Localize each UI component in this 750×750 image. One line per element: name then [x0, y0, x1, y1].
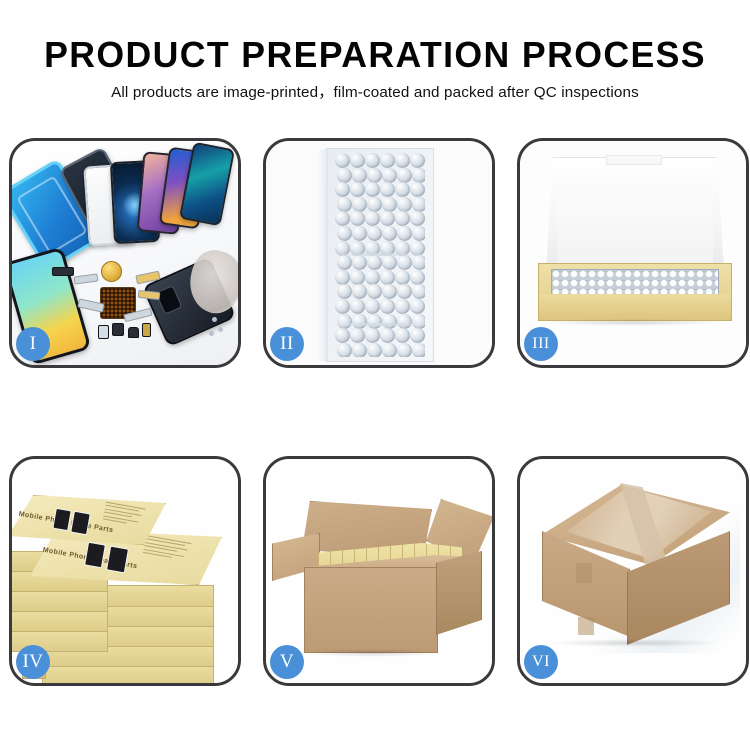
box-front-face-graphic: [539, 294, 731, 320]
bubble-graphic: [410, 299, 425, 314]
step-panel-1: I: [9, 138, 241, 368]
bubble-graphic: [410, 153, 425, 168]
step-badge-2: II: [270, 327, 304, 361]
open-box-illustration: [520, 141, 746, 365]
step-6-image: [520, 459, 746, 683]
box-lid-tab-graphic: [606, 155, 662, 165]
bubble-graphic: [395, 182, 410, 197]
bubble-graphic: [365, 182, 380, 197]
carton-shadow-graphic: [306, 649, 438, 657]
box-stack-graphic: Mobile Phone Spare PartsMobile Phone Spa…: [12, 469, 238, 679]
carton-shadow-graphic: [550, 639, 720, 647]
header: PRODUCT PREPARATION PROCESS All products…: [0, 0, 750, 102]
box-shadow-graphic: [546, 319, 722, 326]
bubble-graphic: [367, 314, 382, 329]
bubble-graphic: [365, 328, 380, 343]
bubble-graphic: [337, 168, 352, 183]
bubble-graphic: [412, 168, 425, 183]
sealed-carton-illustration: [520, 459, 746, 683]
step-badge-3: III: [524, 327, 558, 361]
bubble-graphic: [397, 284, 412, 299]
bubble-graphic: [410, 182, 425, 197]
box-lid-graphic: [546, 157, 724, 271]
bubble-graphic: [352, 314, 367, 329]
bubble-graphic: [335, 270, 350, 285]
bubble-graphic: [337, 284, 352, 299]
bubble-graphic: [412, 343, 425, 357]
carton-flap-tab-graphic: [578, 617, 594, 635]
step-panel-2: II: [263, 138, 495, 368]
step-badge-1: I: [16, 327, 50, 361]
step-5-image: [266, 459, 492, 683]
component-chip-graphic: [128, 327, 139, 338]
bubble-graphic: [382, 168, 397, 183]
bubble-graphic: [412, 226, 425, 241]
box-stack-layer-rear: [12, 611, 108, 632]
bubble-graphic: [395, 153, 410, 168]
step-badge-6: VI: [524, 645, 558, 679]
bubble-graphic: [367, 284, 382, 299]
carton-flap-tab-graphic: [576, 563, 592, 583]
bubble-graphic: [395, 270, 410, 285]
bubble-wrap-illustration: [266, 141, 492, 365]
bubble-graphic: [352, 197, 367, 212]
bubble-graphic: [410, 270, 425, 285]
carton-front-face-graphic: [304, 567, 438, 653]
bubble-graphic: [352, 343, 367, 357]
bubble-graphic: [365, 153, 380, 168]
flex-cable-graphic: [74, 273, 99, 284]
bubble-graphic: [397, 168, 412, 183]
bubble-graphic: [367, 255, 382, 270]
bubble-graphic: [412, 197, 425, 212]
bubble-graphic: [337, 197, 352, 212]
bubble-graphic: [367, 226, 382, 241]
page-title: PRODUCT PREPARATION PROCESS: [4, 34, 747, 76]
vibration-motor-graphic: [101, 261, 122, 282]
bubble-graphic: [352, 168, 367, 183]
screw-graphic: [218, 327, 223, 332]
step-panel-4: Mobile Phone Spare PartsMobile Phone Spa…: [9, 456, 241, 686]
bubble-graphic: [365, 211, 380, 226]
bubble-graphic: [380, 211, 395, 226]
bubble-graphic: [335, 211, 350, 226]
bubble-graphic: [397, 197, 412, 212]
bubble-graphic: [337, 226, 352, 241]
bubble-graphic: [350, 299, 365, 314]
bubble-graphic: [382, 284, 397, 299]
bubble-graphic: [380, 270, 395, 285]
bubble-wrap-pouch-graphic: [326, 148, 434, 362]
bubble-graphic: [367, 343, 382, 357]
bubble-graphic: [412, 314, 425, 329]
bubble-graphic: [380, 328, 395, 343]
steps-grid: I II: [9, 138, 741, 686]
bubble-graphic: [367, 197, 382, 212]
flex-cable-graphic: [138, 290, 161, 300]
bubble-graphic: [352, 255, 367, 270]
bubble-graphic: [335, 182, 350, 197]
bubble-graphic: [382, 314, 397, 329]
component-chip-graphic: [98, 325, 109, 339]
pouch-seam-graphic: [333, 323, 427, 326]
box-stack-layer-rear: [12, 591, 108, 612]
bubble-graphic: [397, 226, 412, 241]
step-panel-5: V: [263, 456, 495, 686]
bubble-graphic: [335, 153, 350, 168]
bubble-graphic: [382, 343, 397, 357]
component-chip-graphic: [112, 323, 124, 336]
bubble-graphic: [395, 211, 410, 226]
bubble-graphic: [350, 182, 365, 197]
step-panel-6: VI: [517, 456, 749, 686]
bubble-graphic: [410, 211, 425, 226]
bubble-graphic: [352, 284, 367, 299]
screw-graphic: [209, 331, 214, 336]
box-stack-layer: [42, 665, 214, 683]
bubble-graphic: [382, 197, 397, 212]
bubble-graphic: [395, 299, 410, 314]
bubble-graphic: [350, 153, 365, 168]
bubble-graphic: [337, 255, 352, 270]
bubble-graphic: [337, 314, 352, 329]
bubble-graphic: [410, 328, 425, 343]
bubble-graphic: [397, 314, 412, 329]
bubble-graphic: [380, 182, 395, 197]
component-chip-graphic: [142, 323, 151, 337]
open-carton-illustration: [266, 459, 492, 683]
bubble-graphic: [335, 328, 350, 343]
bubble-graphic: [412, 255, 425, 270]
bubble-graphic: [382, 255, 397, 270]
carton-side-face-graphic: [436, 551, 482, 635]
bubble-graphic: [365, 299, 380, 314]
bubble-graphic: [365, 270, 380, 285]
bubble-graphic: [397, 255, 412, 270]
step-panel-3: III: [517, 138, 749, 368]
page-subtitle: All products are image-printed，film-coat…: [0, 83, 750, 102]
phones-and-parts-illustration: [12, 141, 238, 365]
step-4-image: Mobile Phone Spare PartsMobile Phone Spa…: [12, 459, 238, 683]
bubble-graphic: [352, 226, 367, 241]
bubble-graphic: [367, 168, 382, 183]
pouch-seam-graphic: [333, 253, 427, 256]
bubble-graphic: [350, 328, 365, 343]
product-preparation-process-infographic: PRODUCT PREPARATION PROCESS All products…: [0, 0, 750, 750]
stacked-boxes-illustration: Mobile Phone Spare PartsMobile Phone Spa…: [12, 459, 238, 683]
bubble-graphic: [397, 343, 412, 357]
step-1-image: [12, 141, 238, 365]
bubble-graphic: [335, 299, 350, 314]
bubble-graphic: [382, 226, 397, 241]
box-base-graphic: [538, 263, 732, 321]
step-badge-4: IV: [16, 645, 50, 679]
bubble-graphic: [395, 328, 410, 343]
bubble-graphic: [350, 211, 365, 226]
bubble-graphic: [350, 270, 365, 285]
step-2-image: [266, 141, 492, 365]
bubble-graphic: [337, 343, 352, 357]
component-chip-graphic: [52, 267, 74, 276]
bubble-graphic: [380, 299, 395, 314]
step-badge-5: V: [270, 645, 304, 679]
step-3-image: [520, 141, 746, 365]
bubble-graphic: [380, 153, 395, 168]
bubble-graphic: [412, 284, 425, 299]
screw-graphic: [212, 317, 217, 322]
